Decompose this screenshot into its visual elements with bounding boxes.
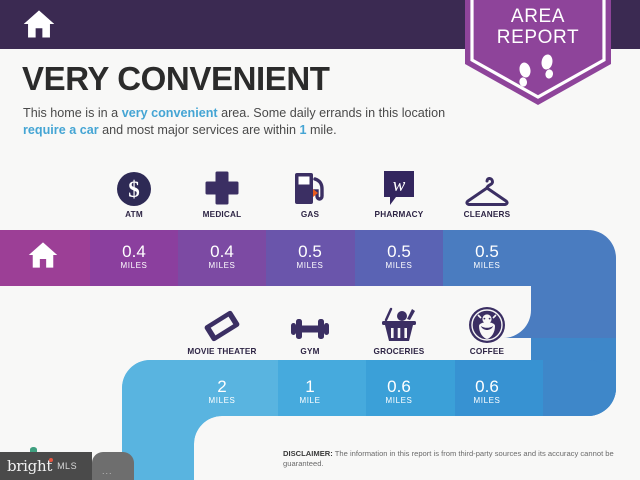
brightmls-dot: [49, 458, 53, 462]
brightmls-word: bright: [7, 457, 52, 475]
distance-atm: 0.4 MILES: [90, 242, 178, 270]
subtext-highlight-3: 1: [299, 123, 306, 137]
distance-unit: MILES: [443, 261, 531, 270]
green-accent-dot: [30, 447, 37, 452]
distance-pharmacy: 0.5 MILES: [355, 242, 443, 270]
medical-cross-icon: [178, 163, 266, 207]
category-groceries: GROCERIES: [355, 300, 443, 356]
category-gym: GYM: [266, 300, 354, 356]
gas-pump-icon: [266, 163, 354, 207]
walgreens-w-icon: w: [355, 163, 443, 207]
distance-unit: MILE: [266, 396, 354, 405]
category-label: ATM: [90, 210, 178, 219]
home-icon-ribbon: [27, 240, 59, 270]
category-label: PHARMACY: [355, 210, 443, 219]
disclaimer: DISCLAIMER: The information in this repo…: [283, 449, 623, 469]
distance-value: 1: [266, 377, 354, 396]
subtext-highlight-1: very convenient: [122, 106, 218, 120]
distance-value: 0.5: [355, 242, 443, 261]
category-label: CLEANERS: [443, 210, 531, 219]
category-gas: GAS: [266, 163, 354, 219]
subtext-highlight-2: require a car: [23, 123, 99, 137]
subtext-part-2: area. Some daily errands in this locatio…: [218, 106, 446, 120]
brightmls-word-text: bright: [7, 457, 52, 475]
category-label: MOVIE THEATER: [178, 347, 266, 356]
distance-value: 2: [178, 377, 266, 396]
distance-medical: 0.4 MILES: [178, 242, 266, 270]
home-icon: [22, 8, 56, 40]
brightmls-suffix: MLS: [57, 461, 77, 471]
distance-value: 0.4: [178, 242, 266, 261]
category-cleaners: CLEANERS: [443, 163, 531, 219]
distance-unit: MILES: [178, 396, 266, 405]
distance-unit: MILES: [266, 261, 354, 270]
category-pharmacy: w PHARMACY: [355, 163, 443, 219]
subtext-part-3: and most major services are within: [99, 123, 300, 137]
distance-unit: MILES: [178, 261, 266, 270]
category-coffee: COFFEE: [443, 300, 531, 356]
area-report-banner: AREA REPORT: [465, 0, 611, 102]
row2-icons: MOVIE THEATER GYM: [0, 300, 640, 362]
distance-movie-theater: 2 MILES: [178, 377, 266, 405]
svg-text:$: $: [128, 177, 140, 202]
category-label: GROCERIES: [355, 347, 443, 356]
distance-groceries: 0.6 MILES: [355, 377, 443, 405]
distance-gym: 1 MILE: [266, 377, 354, 405]
category-movie-theater: MOVIE THEATER: [178, 300, 266, 356]
category-label: GYM: [266, 347, 354, 356]
row1-icons: $ ATM MEDICAL GAS: [0, 163, 640, 225]
svg-text:w: w: [393, 175, 406, 196]
distance-cleaners: 0.5 MILES: [443, 242, 531, 270]
distance-unit: MILES: [90, 261, 178, 270]
dollar-circle-icon: $: [90, 163, 178, 207]
starbucks-icon: [443, 300, 531, 344]
dumbbell-icon: [266, 300, 354, 344]
page-title: VERY CONVENIENT: [22, 60, 330, 98]
distance-unit: MILES: [355, 396, 443, 405]
avatar: [92, 452, 134, 480]
avatar-dots: ...: [102, 466, 113, 476]
area-report-page: AREA REPORT VERY CONVENIENT This home is…: [0, 0, 640, 480]
distance-unit: MILES: [355, 261, 443, 270]
subtext-part-1: This home is in a: [23, 106, 122, 120]
category-label: MEDICAL: [178, 210, 266, 219]
page-subtext: This home is in a very convenient area. …: [23, 105, 455, 139]
distance-coffee: 0.6 MILES: [443, 377, 531, 405]
brightmls-logo: bright MLS: [0, 452, 92, 480]
distance-value: 0.5: [443, 242, 531, 261]
distance-value: 0.5: [266, 242, 354, 261]
category-label: COFFEE: [443, 347, 531, 356]
disclaimer-text: The information in this report is from t…: [283, 449, 614, 468]
distance-value: 0.4: [90, 242, 178, 261]
hanger-icon: [443, 163, 531, 207]
grocery-basket-icon: [355, 300, 443, 344]
category-medical: MEDICAL: [178, 163, 266, 219]
category-atm: $ ATM: [90, 163, 178, 219]
distance-unit: MILES: [443, 396, 531, 405]
distance-value: 0.6: [355, 377, 443, 396]
subtext-part-4: mile.: [307, 123, 337, 137]
movie-ticket-icon: [178, 300, 266, 344]
distance-gas: 0.5 MILES: [266, 242, 354, 270]
category-label: GAS: [266, 210, 354, 219]
disclaimer-label: DISCLAIMER:: [283, 449, 333, 458]
distance-value: 0.6: [443, 377, 531, 396]
